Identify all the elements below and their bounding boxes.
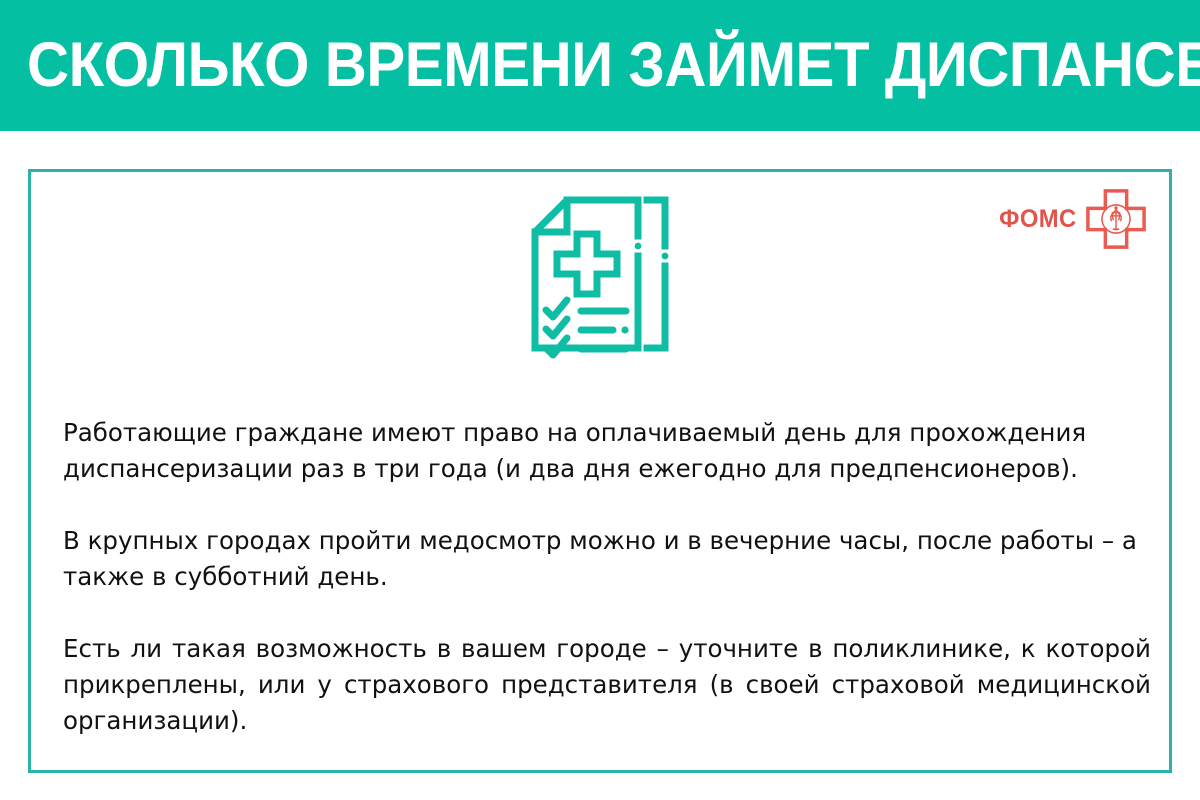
medical-checklist-document-icon xyxy=(523,190,677,368)
header-banner: СКОЛЬКО ВРЕМЕНИ ЗАЙМЕТ ДИСПАНСЕРИЗАЦИЯ xyxy=(0,0,1200,131)
content-frame: ФОМС xyxy=(28,169,1172,773)
body-text-block: Работающие граждане имеют право на оплач… xyxy=(63,415,1151,739)
paragraph-1: Работающие граждане имеют право на оплач… xyxy=(63,415,1151,487)
page-title: СКОЛЬКО ВРЕМЕНИ ЗАЙМЕТ ДИСПАНСЕРИЗАЦИЯ xyxy=(27,28,1093,102)
paragraph-3: Есть ли такая возможность в вашем городе… xyxy=(63,631,1151,739)
hero-icon-container xyxy=(31,190,1169,368)
paragraph-2: В крупных городах пройти медосмотр можно… xyxy=(63,523,1151,595)
